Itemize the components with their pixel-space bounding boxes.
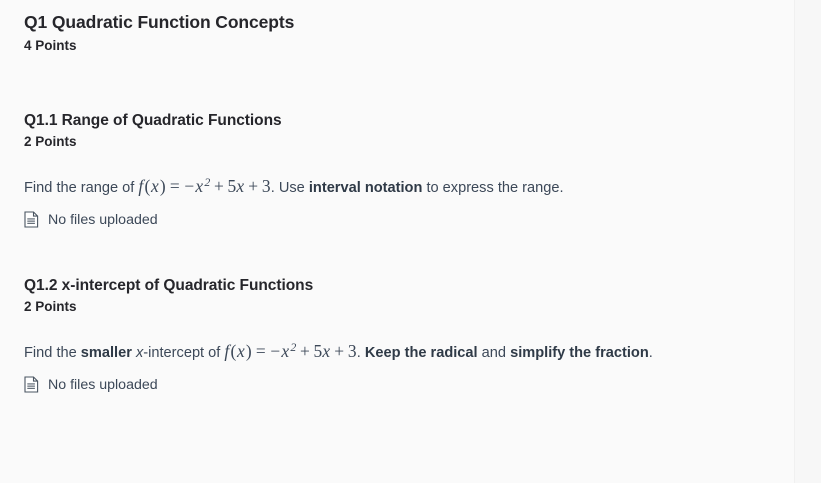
question-points: 4 Points — [24, 33, 794, 55]
subquestion-prompt: Find the smaller x-intercept of f(x)=−x2… — [24, 316, 786, 368]
subquestion-points: 2 Points — [24, 131, 794, 151]
math-variable: x — [322, 341, 330, 361]
document-icon — [24, 211, 39, 228]
files-status-row: No files uploaded — [24, 368, 794, 393]
prompt-after-variable: -intercept of — [143, 345, 220, 361]
prompt-emphasis: interval notation — [309, 180, 423, 196]
subquestion-prompt: Find the range of f(x)=−x2+5x+3. Use int… — [24, 151, 786, 203]
math-unary-minus: − — [269, 341, 281, 361]
question-content: Q1 Quadratic Function Concepts 4 Points … — [24, 0, 794, 393]
subquestion-q1-1: Q1.1 Range of Quadratic Functions 2 Poin… — [24, 111, 794, 228]
prompt-tail: to express the range. — [426, 180, 563, 196]
prompt-period: . — [271, 180, 275, 196]
subquestion-points: 2 Points — [24, 296, 794, 316]
math-constant: 3 — [348, 341, 357, 361]
prompt-end-period: . — [649, 345, 653, 361]
math-equals: = — [252, 341, 269, 361]
prompt-period: . — [357, 345, 361, 361]
math-unary-minus: − — [183, 176, 195, 196]
math-plus-1: + — [210, 176, 227, 196]
prompt-emphasis-fraction: simplify the fraction — [510, 345, 649, 361]
math-variable: x — [236, 176, 244, 196]
prompt-conjunction: and — [482, 345, 506, 361]
subquestion-q1-2: Q1.2 x-intercept of Quadratic Functions … — [24, 276, 794, 393]
math-equals: = — [166, 176, 183, 196]
subquestion-title: Q1.1 Range of Quadratic Functions — [24, 111, 794, 131]
prompt-lead: Find the — [24, 345, 77, 361]
math-base: x — [195, 176, 203, 196]
prompt-emphasis-smaller: smaller — [81, 345, 132, 361]
math-plus-1: + — [296, 341, 313, 361]
document-icon — [24, 376, 39, 393]
files-status-label: No files uploaded — [39, 378, 158, 392]
math-plus-2: + — [245, 176, 262, 196]
math-open-paren: ( — [144, 176, 151, 196]
page-title: Q1 Quadratic Function Concepts — [24, 0, 794, 33]
files-status-row: No files uploaded — [24, 203, 794, 228]
prompt-emphasis-radical: Keep the radical — [365, 345, 478, 361]
math-constant: 3 — [262, 176, 271, 196]
math-open-paren: ( — [230, 341, 237, 361]
question-card: Q1 Quadratic Function Concepts 4 Points … — [0, 0, 795, 483]
files-status-label: No files uploaded — [39, 213, 158, 227]
math-expression: f(x)=−x2+5x+3 — [138, 176, 270, 196]
math-base: x — [281, 341, 289, 361]
math-expression: f(x)=−x2+5x+3 — [224, 341, 356, 361]
prompt-lead: Find the range of — [24, 180, 134, 196]
math-plus-2: + — [331, 341, 348, 361]
subquestion-title: Q1.2 x-intercept of Quadratic Functions — [24, 276, 794, 296]
prompt-mid: Use — [279, 180, 305, 196]
